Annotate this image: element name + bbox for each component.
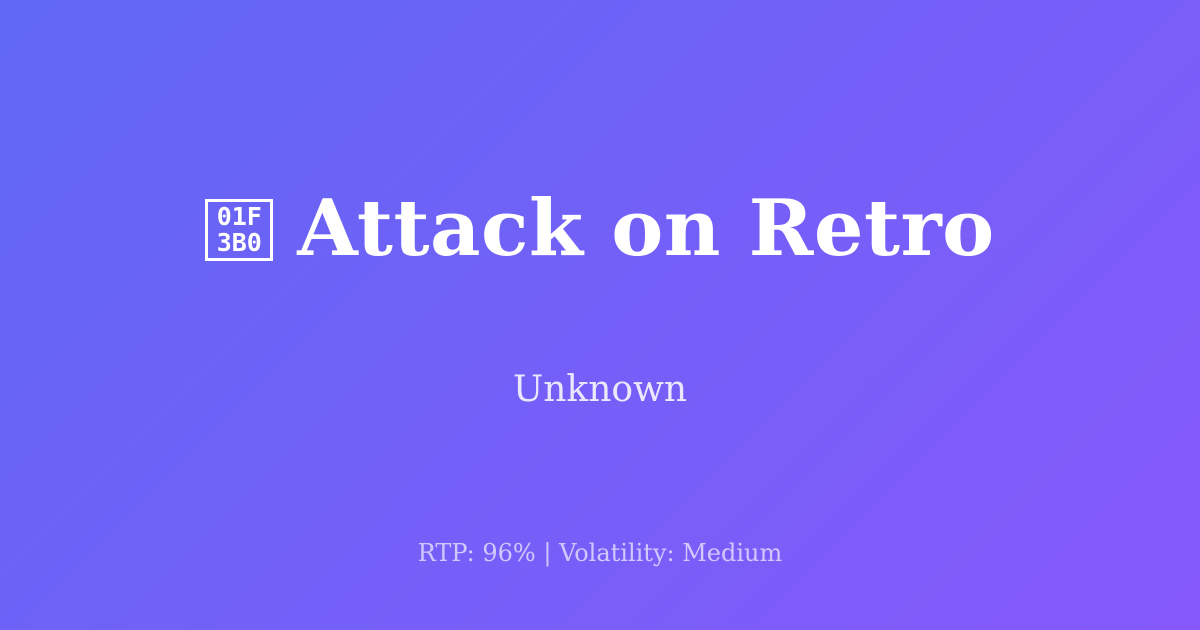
page-title: Attack on Retro — [297, 186, 994, 272]
game-provider-subtitle: Unknown — [513, 368, 687, 412]
slot-machine-icon-codepoint-bottom: 3B0 — [217, 230, 262, 256]
game-stats-line: RTP: 96% | Volatility: Medium — [0, 538, 1200, 568]
game-og-card: 01F 3B0 Attack on Retro Unknown RTP: 96%… — [0, 0, 1200, 630]
hero-block: 01F 3B0 Attack on Retro Unknown — [0, 0, 1200, 630]
slot-machine-icon: 01F 3B0 — [205, 199, 273, 261]
slot-machine-icon-codepoint-top: 01F — [217, 204, 262, 230]
title-row: 01F 3B0 Attack on Retro — [205, 134, 994, 325]
